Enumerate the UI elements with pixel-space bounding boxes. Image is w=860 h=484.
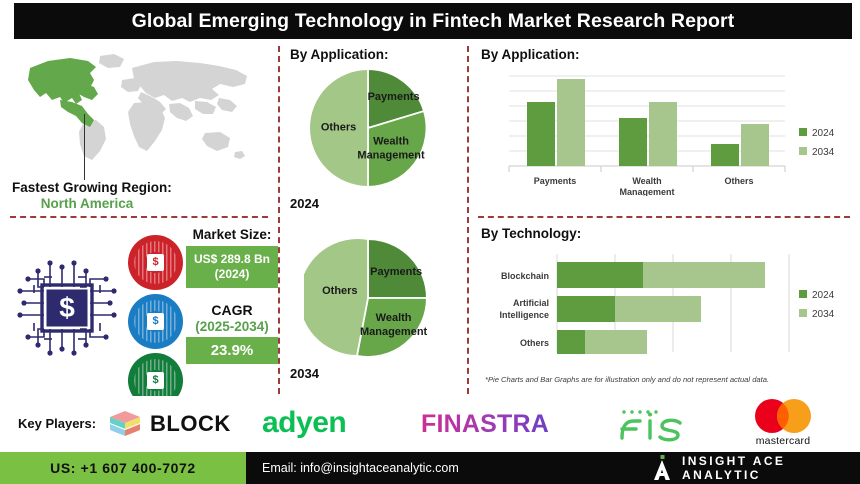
bar-chart-technology: Blockchain Artificial Intelligence Other… (475, 250, 855, 368)
coin-blue-icon: $ (128, 294, 183, 349)
cagr-years: (2025-2034) (186, 319, 278, 334)
bar-legend-swatch-2024 (799, 128, 807, 136)
pie-2034-label-wealth-2: Management (360, 326, 428, 338)
bar-chart-title: By Application: (481, 47, 580, 62)
hbar-legend-label-2024: 2024 (812, 290, 835, 301)
region-label: Fastest Growing Region: North America (12, 180, 262, 211)
world-map (14, 48, 264, 173)
pie-2024-label-payments: Payments (368, 91, 420, 103)
world-map-svg (14, 48, 264, 173)
footer-bar: US: +1 607 400-7072 Email: info@insighta… (0, 452, 860, 484)
market-size-amount: US$ 289.8 Bn (194, 252, 270, 266)
pie-2024-label-wealth-1: Wealth (373, 136, 409, 148)
bar-wealth-2024 (619, 118, 647, 166)
mastercard-circles-icon (740, 398, 826, 434)
market-size-year: (2024) (215, 267, 250, 281)
market-size-title: Market Size: (186, 227, 278, 242)
bar-axis-label-wealth-1: Wealth (632, 176, 661, 186)
pie-section-title: By Application: (290, 47, 389, 62)
hbar-axis-label-ai-2: Intelligence (499, 310, 549, 320)
region-title: Fastest Growing Region: (12, 180, 262, 195)
hbar-ai-2024 (557, 296, 615, 322)
bar-axis-label-payments: Payments (534, 176, 577, 186)
footer-email[interactable]: Email: info@insightaceanalytic.com (262, 452, 459, 484)
right-column: By Application: (471, 42, 860, 394)
logo-block: BLOCK (108, 408, 231, 440)
pie-2024-label-others: Others (321, 122, 356, 134)
cagr-title: CAGR (186, 302, 278, 318)
coin-icons: $ $ $ (128, 235, 190, 412)
pie-chart-2024: Payments Wealth Management Others 2024 (304, 64, 432, 211)
middle-column: By Application: Payments Wealth Manageme… (282, 42, 467, 394)
cagr-value: 23.9% (186, 337, 278, 364)
hbar-axis-label-ai-1: Artificial (513, 298, 549, 308)
bar-legend-label-2024: 2024 (812, 128, 835, 139)
divider-vertical-right (467, 46, 469, 394)
footer-brand-text: INSIGHT ACE ANALYTIC (682, 454, 860, 482)
logo-adyen: adyen (262, 406, 346, 440)
market-size-block: $ $ $ $ Market Size: (0, 227, 278, 392)
bar-chart-application: Payments Wealth Management Others 2024 2… (475, 68, 855, 196)
pie-2034-svg: Payments Wealth Management Others (304, 234, 432, 362)
footer-brand: INSIGHT ACE ANALYTIC (652, 452, 860, 484)
logo-finastra-text: FINASTRA (421, 410, 549, 439)
header-bar: Global Emerging Technology in Fintech Ma… (14, 3, 852, 39)
pie-2034-label-others: Others (322, 285, 357, 297)
pie-2024-year: 2024 (290, 196, 432, 211)
hbar-legend-label-2034: 2034 (812, 309, 835, 320)
key-players-label: Key Players: (18, 416, 96, 431)
hbar-blockchain-2024 (557, 262, 643, 288)
bar-legend-swatch-2034 (799, 147, 807, 155)
pie-2034-label-wealth-1: Wealth (376, 312, 412, 324)
hbar-legend-swatch-2034 (799, 309, 807, 317)
hbar-others-2034 (585, 330, 647, 354)
divider-vertical-left (278, 46, 280, 394)
bar-legend-label-2034: 2034 (812, 147, 835, 158)
pie-2024-svg: Payments Wealth Management Others (304, 64, 432, 192)
market-size-value: US$ 289.8 Bn (2024) (186, 246, 278, 288)
pie-2034-year: 2034 (290, 366, 432, 381)
fis-logo-icon (616, 408, 688, 442)
hbar-axis-label-others: Others (520, 338, 549, 348)
hbar-blockchain-2034 (643, 262, 765, 288)
bar-payments-2034 (557, 79, 585, 166)
bar-axis-label-others: Others (724, 176, 753, 186)
block-cube-icon (108, 408, 142, 440)
bar-others-2024 (711, 144, 739, 166)
logo-adyen-text: adyen (262, 406, 346, 440)
logo-fis (616, 408, 688, 442)
chart-disclaimer: *Pie Charts and Bar Graphs are for illus… (485, 375, 769, 384)
logo-mastercard: mastercard (740, 398, 826, 447)
hbar-others-2024 (557, 330, 585, 354)
svg-text:$: $ (59, 292, 75, 323)
market-size-text: Market Size: US$ 289.8 Bn (2024) CAGR (2… (186, 227, 278, 364)
tech-chart-title: By Technology: (481, 226, 581, 241)
insight-ace-logo-icon (652, 455, 672, 481)
bar-wealth-2034 (649, 102, 677, 166)
map-pin-line (84, 114, 85, 180)
region-name: North America (12, 196, 162, 211)
pie-chart-2034: Payments Wealth Management Others 2034 (304, 234, 432, 381)
coin-red-icon: $ (128, 235, 183, 290)
fintech-chip-icon: $ (8, 247, 126, 369)
hbar-ai-2034 (615, 296, 701, 322)
bar-axis-label-wealth-2: Management (619, 187, 674, 196)
key-players-row: Key Players: BLOCK adyen FINASTRA (0, 396, 860, 452)
logo-mastercard-text: mastercard (756, 435, 811, 447)
left-column: Fastest Growing Region: North America (0, 42, 278, 394)
pie-2024-label-wealth-2: Management (357, 150, 425, 162)
footer-phone[interactable]: US: +1 607 400-7072 (0, 452, 246, 484)
page-title: Global Emerging Technology in Fintech Ma… (132, 10, 735, 33)
logo-finastra: FINASTRA (421, 410, 549, 439)
bar-others-2034 (741, 124, 769, 166)
hbar-axis-label-blockchain: Blockchain (501, 271, 549, 281)
pie-2034-label-payments: Payments (370, 266, 422, 278)
infographic-page: Global Emerging Technology in Fintech Ma… (0, 0, 860, 484)
logo-block-text: BLOCK (150, 411, 231, 437)
bar-payments-2024 (527, 102, 555, 166)
hbar-legend-swatch-2024 (799, 290, 807, 298)
